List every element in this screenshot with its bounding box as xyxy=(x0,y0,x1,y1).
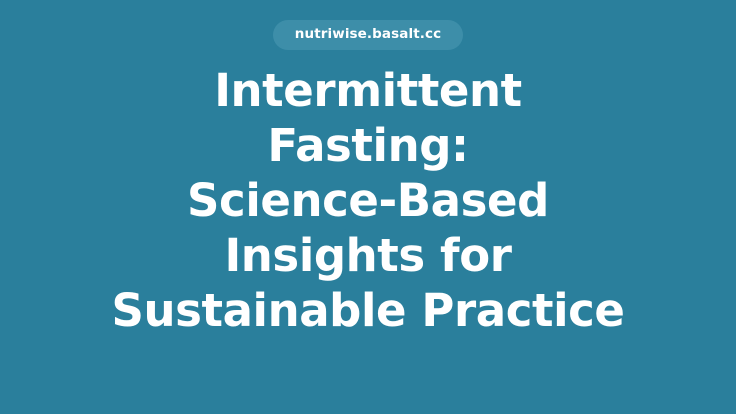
page-title-line: Science-Based xyxy=(48,173,688,228)
page-title: Intermittent Fasting: Science-Based Insi… xyxy=(48,63,688,338)
social-share-card: nutriwise.basalt.cc Intermittent Fasting… xyxy=(0,0,736,414)
domain-badge[interactable]: nutriwise.basalt.cc xyxy=(273,20,463,50)
page-title-line: Insights for xyxy=(48,228,688,283)
page-title-line: Sustainable Practice xyxy=(48,283,688,338)
page-title-line: Fasting: xyxy=(48,118,688,173)
page-title-line: Intermittent xyxy=(48,63,688,118)
